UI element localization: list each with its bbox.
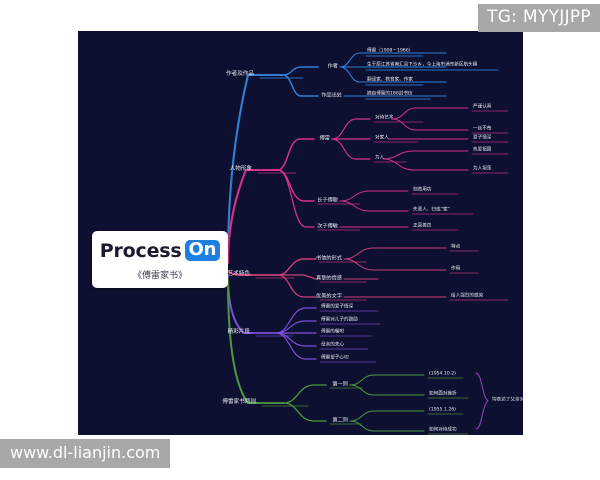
leaf-art-rigorous[interactable]: 严谨认真 xyxy=(473,106,491,111)
leaf-form-feature[interactable]: 特点 xyxy=(451,246,460,251)
center-node-logo-card[interactable]: ProcessOn 《傅雷家书》 xyxy=(92,231,228,288)
leaf-strong-appeal[interactable]: 给人强烈的感染 xyxy=(451,295,483,300)
site-watermark-badge: www.dl-lianjin.com xyxy=(0,439,170,468)
node-fulei[interactable]: 傅雷 xyxy=(320,136,330,141)
leaf-excerpt-5[interactable]: 傅雷望子心切 xyxy=(321,357,349,362)
branch-label-3[interactable]: 艺术特色 xyxy=(228,272,250,278)
node-author[interactable]: 作者 xyxy=(328,64,338,69)
leaf-son-home[interactable]: 失意人、归或“家” xyxy=(413,209,450,214)
node-source[interactable]: 作品出处 xyxy=(321,93,342,98)
annotation-paternal-love: 均表达了父亲对儿子的舐犊之情 xyxy=(492,399,523,404)
leaf-author-life[interactable]: 傅雷（1908－1966） xyxy=(367,50,413,55)
leaf-source-letters[interactable]: 摘自傅雷的186封书信 xyxy=(367,93,413,98)
leaf-form-function[interactable]: 作用 xyxy=(451,268,460,273)
leaf-topic-one[interactable]: 如何面对挫折 xyxy=(429,393,457,398)
leaf-author-birthplace[interactable]: 生于原江苏省南汇县下沙乡，今上海市浦东新区航头镇 xyxy=(367,64,477,69)
leaf-author-roles[interactable]: 翻译家、教育家、作家 xyxy=(367,79,413,84)
node-sincere-emotion[interactable]: 真挚的情感 xyxy=(316,276,342,281)
node-toward-family[interactable]: 对家人 xyxy=(375,137,389,142)
node-second-son[interactable]: 次子傅敏 xyxy=(317,224,338,229)
telegram-watermark-badge: TG: MYYJJPP xyxy=(478,4,600,32)
node-letter-form[interactable]: 书信的形式 xyxy=(316,256,342,261)
branch-label-5[interactable]: 傅雷家书两则 xyxy=(222,400,256,406)
node-character[interactable]: 为人 xyxy=(375,157,384,162)
leaf-art-meticulous[interactable]: 一丝不苟 xyxy=(473,128,491,133)
node-letter-two[interactable]: 第二则 xyxy=(332,418,348,423)
node-beautiful-words[interactable]: 优美的文字 xyxy=(316,294,342,299)
leaf-date-two[interactable]: (1955.1.26) xyxy=(429,409,456,414)
branch-label-1[interactable]: 作者及作品 xyxy=(226,72,254,78)
screenshot-root: 作者及作品 作者 作品出处 傅雷（1908－1966） 生于原江苏省南汇县下沙乡… xyxy=(0,0,600,480)
leaf-patriotic[interactable]: 热爱祖国 xyxy=(473,149,491,154)
node-letter-one[interactable]: 第一则 xyxy=(332,382,348,387)
leaf-son2-kind[interactable]: 正直善良 xyxy=(413,225,431,230)
leaf-upright[interactable]: 为人坦荡 xyxy=(473,168,491,173)
brand-text-process: Process xyxy=(100,240,182,262)
leaf-excerpt-1[interactable]: 傅雷的爱子情深 xyxy=(321,306,353,311)
brand-badge-on: On xyxy=(185,240,221,261)
leaf-son-diligent[interactable]: 刻苦用功 xyxy=(413,189,431,194)
leaf-excerpt-4[interactable]: 母亲的关心 xyxy=(321,344,344,349)
leaf-date-one[interactable]: (1954.10.2) xyxy=(429,373,456,378)
node-eldest-son[interactable]: 长子傅聪 xyxy=(317,198,338,203)
node-toward-art[interactable]: 对待艺术 xyxy=(375,117,393,122)
center-node-title: 《傅雷家书》 xyxy=(92,268,228,281)
leaf-excerpt-2[interactable]: 傅雷对儿子的鼓励 xyxy=(321,319,358,324)
leaf-family-love[interactable]: 爱子情深 xyxy=(473,137,491,142)
processon-logo: ProcessOn xyxy=(92,240,228,262)
branch-label-4[interactable]: 精彩片段 xyxy=(228,330,250,336)
branch-label-2[interactable]: 人物形象 xyxy=(230,167,252,173)
leaf-topic-two[interactable]: 如何对待成功 xyxy=(429,429,457,434)
leaf-excerpt-3[interactable]: 傅雷的嘱咐 xyxy=(321,331,344,336)
